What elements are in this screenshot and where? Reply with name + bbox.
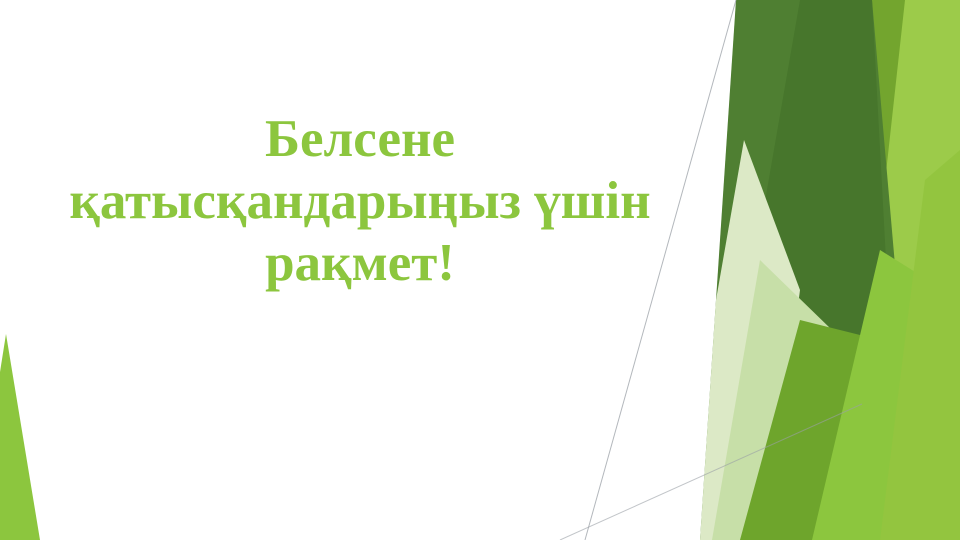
thin-diagonal-rule-lower — [560, 404, 862, 540]
facet-bright-right-band — [700, 0, 960, 540]
left-corner-wedge-shape — [0, 334, 40, 540]
page-title: Белсене қатысқандарыңыз үшін рақмет! — [0, 108, 720, 294]
title-line-2: қатысқандарыңыз үшін — [0, 170, 720, 232]
title-line-3: рақмет! — [0, 232, 720, 294]
facet-light-green-right — [805, 0, 960, 540]
facet-deep-green-shadow — [760, 0, 886, 420]
facet-dark-green-main — [700, 0, 898, 540]
facet-light-green-far-right — [880, 150, 960, 540]
facet-paler-green-overlay — [712, 260, 832, 540]
slide-canvas: Белсене қатысқандарыңыз үшін рақмет! — [0, 0, 960, 540]
title-line-1: Белсене — [0, 108, 720, 170]
facet-olive-wedge — [742, 0, 905, 540]
facet-bright-green-lower-right — [812, 250, 960, 540]
facet-mid-green-lower — [740, 320, 880, 540]
